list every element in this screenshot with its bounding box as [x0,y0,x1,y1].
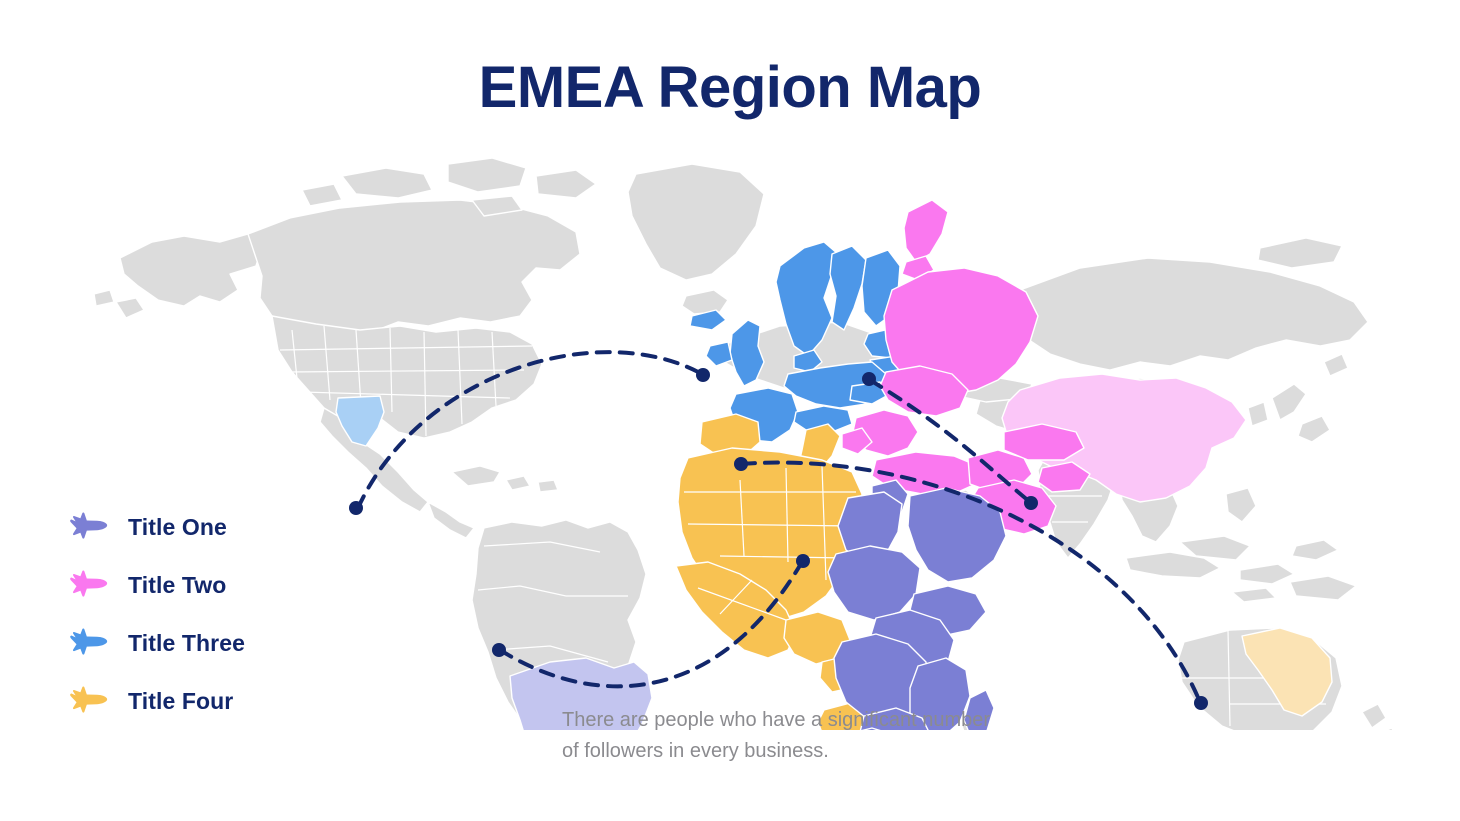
marker-sudan [796,554,810,568]
airplane-icon [66,508,112,546]
page-title: EMEA Region Map [0,56,1460,120]
marker-queensland [1194,696,1208,710]
marker-moscow [862,372,876,386]
airplane-icon [66,566,112,604]
region-northern-western-europe [690,242,900,442]
airplane-icon [66,682,112,720]
slide-canvas: EMEA Region Map .land { fill:#dcdcdc; st… [0,0,1460,821]
airplane-icon [66,624,112,662]
legend-item-title-one[interactable]: Title One [66,498,396,556]
caption-line-1: There are people who have a significant … [562,705,1122,736]
legend-label-title-four: Title Four [128,688,233,715]
caption: There are people who have a significant … [562,705,1122,767]
legend-item-title-four[interactable]: Title Four [66,672,396,730]
legend-label-title-three: Title Three [128,630,245,657]
region-middle-east-subsaharan-africa [828,480,1006,730]
legend-label-title-one: Title One [128,514,227,541]
marker-italy [734,457,748,471]
legend-label-title-two: Title Two [128,572,226,599]
caption-line-2: of followers in every business. [562,736,1122,767]
legend-item-title-two[interactable]: Title Two [66,556,396,614]
legend: Title One Title Two Title Three [66,498,396,730]
marker-china [1024,496,1038,510]
marker-brazil [492,643,506,657]
marker-north-sea [696,368,710,382]
legend-item-title-three[interactable]: Title Three [66,614,396,672]
